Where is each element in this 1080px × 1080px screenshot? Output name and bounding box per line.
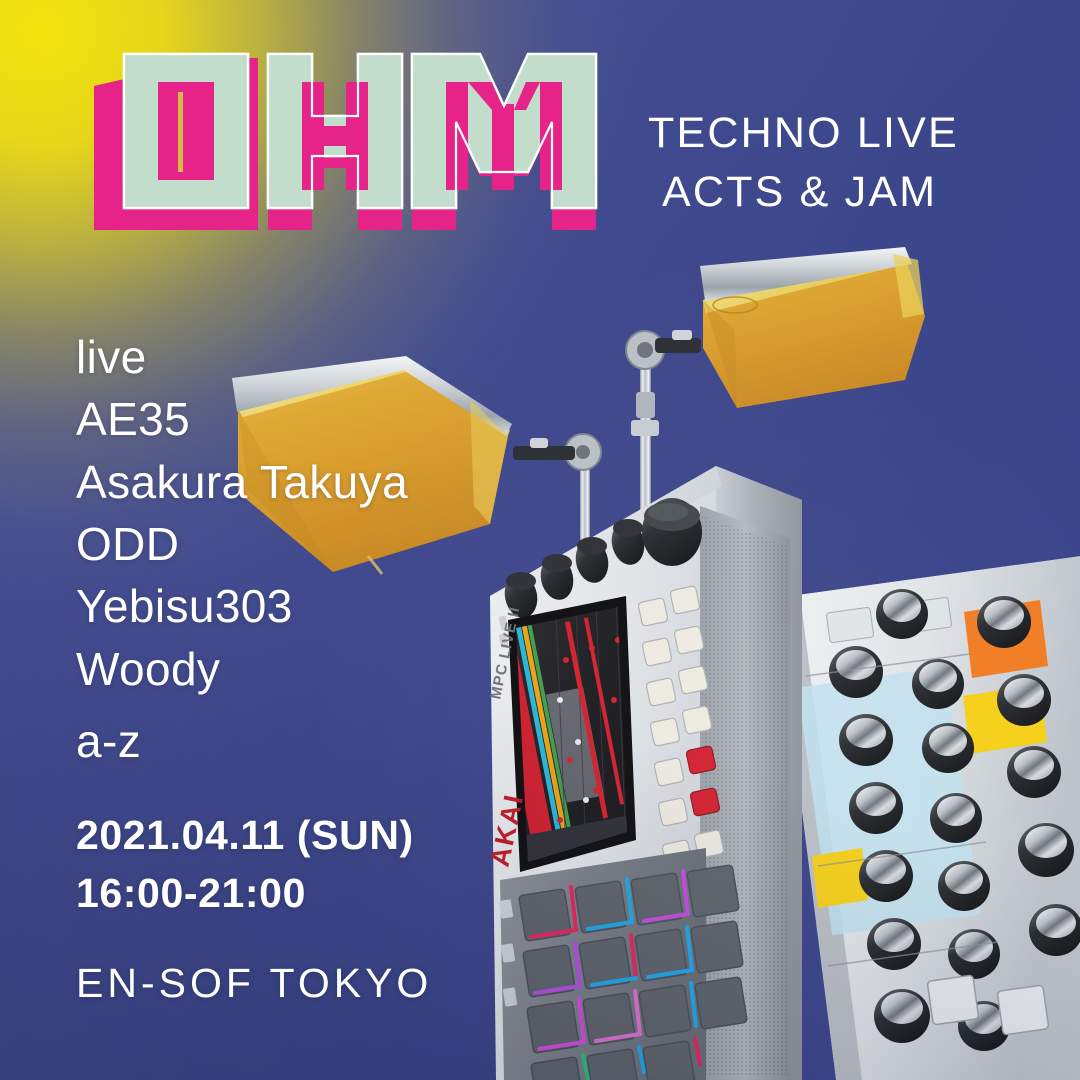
lineup-list: live AE35 Asakura Takuya ODD Yebisu303 W… xyxy=(76,326,408,772)
lineup-artist-3: Yebisu303 xyxy=(76,575,408,637)
headline-line-2: ACTS & JAM xyxy=(648,163,1048,222)
lineup-artist-4: Woody xyxy=(76,638,408,700)
lineup-artist-1: Asakura Takuya xyxy=(76,451,408,513)
event-info: 2021.04.11 (SUN) 16:00-21:00 EN-SOF TOKY… xyxy=(76,806,432,1007)
lineup-artist-0: AE35 xyxy=(76,388,408,450)
headline: TECHNO LIVE ACTS & JAM xyxy=(648,104,1048,223)
event-date: 2021.04.11 (SUN) xyxy=(76,806,432,864)
headline-line-1: TECHNO LIVE xyxy=(648,104,1048,163)
event-venue: EN-SOF TOKYO xyxy=(76,960,432,1007)
lineup-artist-5: a-z xyxy=(76,710,408,772)
lineup-heading: live xyxy=(76,326,408,388)
event-poster: woom xyxy=(0,0,1080,1080)
event-time: 16:00-21:00 xyxy=(76,864,432,922)
lineup-artist-2: ODD xyxy=(76,513,408,575)
ohm-logo xyxy=(62,48,642,248)
